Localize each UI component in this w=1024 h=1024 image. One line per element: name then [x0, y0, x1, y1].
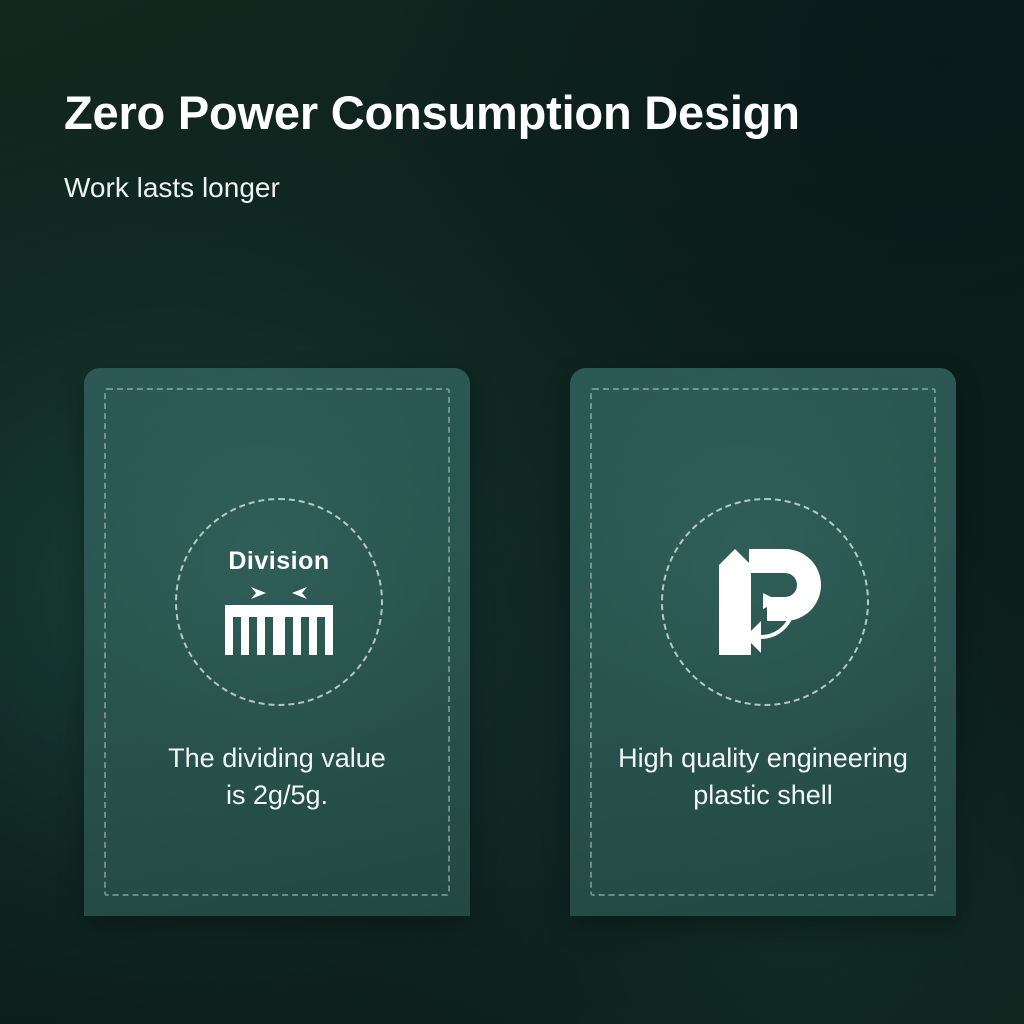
card-caption: The dividing value is 2g/5g.: [108, 740, 446, 814]
card-caption: High quality engineering plastic shell: [594, 740, 932, 814]
page-title: Zero Power Consumption Design: [64, 84, 944, 142]
promo-banner: Zero Power Consumption Design Work lasts…: [0, 0, 1024, 1024]
arrow-right-icon: [251, 587, 266, 599]
header-block: Zero Power Consumption Design Work lasts…: [64, 84, 944, 206]
feature-card-dividing-value: Division The dividing value is 2g/5g.: [84, 368, 470, 916]
p-stem: [719, 549, 751, 655]
p-bowl-arrow: [749, 549, 821, 621]
page-subtitle: Work lasts longer: [64, 142, 944, 206]
icon-dashed-circle: [661, 498, 869, 706]
division-wordmark: Division: [228, 547, 329, 575]
feature-card-list: Division The dividing value is 2g/5g.: [0, 368, 1024, 916]
arrow-left-icon: [292, 587, 307, 599]
icon-dashed-circle: Division: [175, 498, 383, 706]
scale-graduations: [225, 605, 333, 655]
feature-card-plastic-shell: High quality engineering plastic shell: [570, 368, 956, 916]
recycled-plastic-p-icon: [699, 543, 831, 661]
division-scale-icon: Division: [213, 543, 345, 661]
